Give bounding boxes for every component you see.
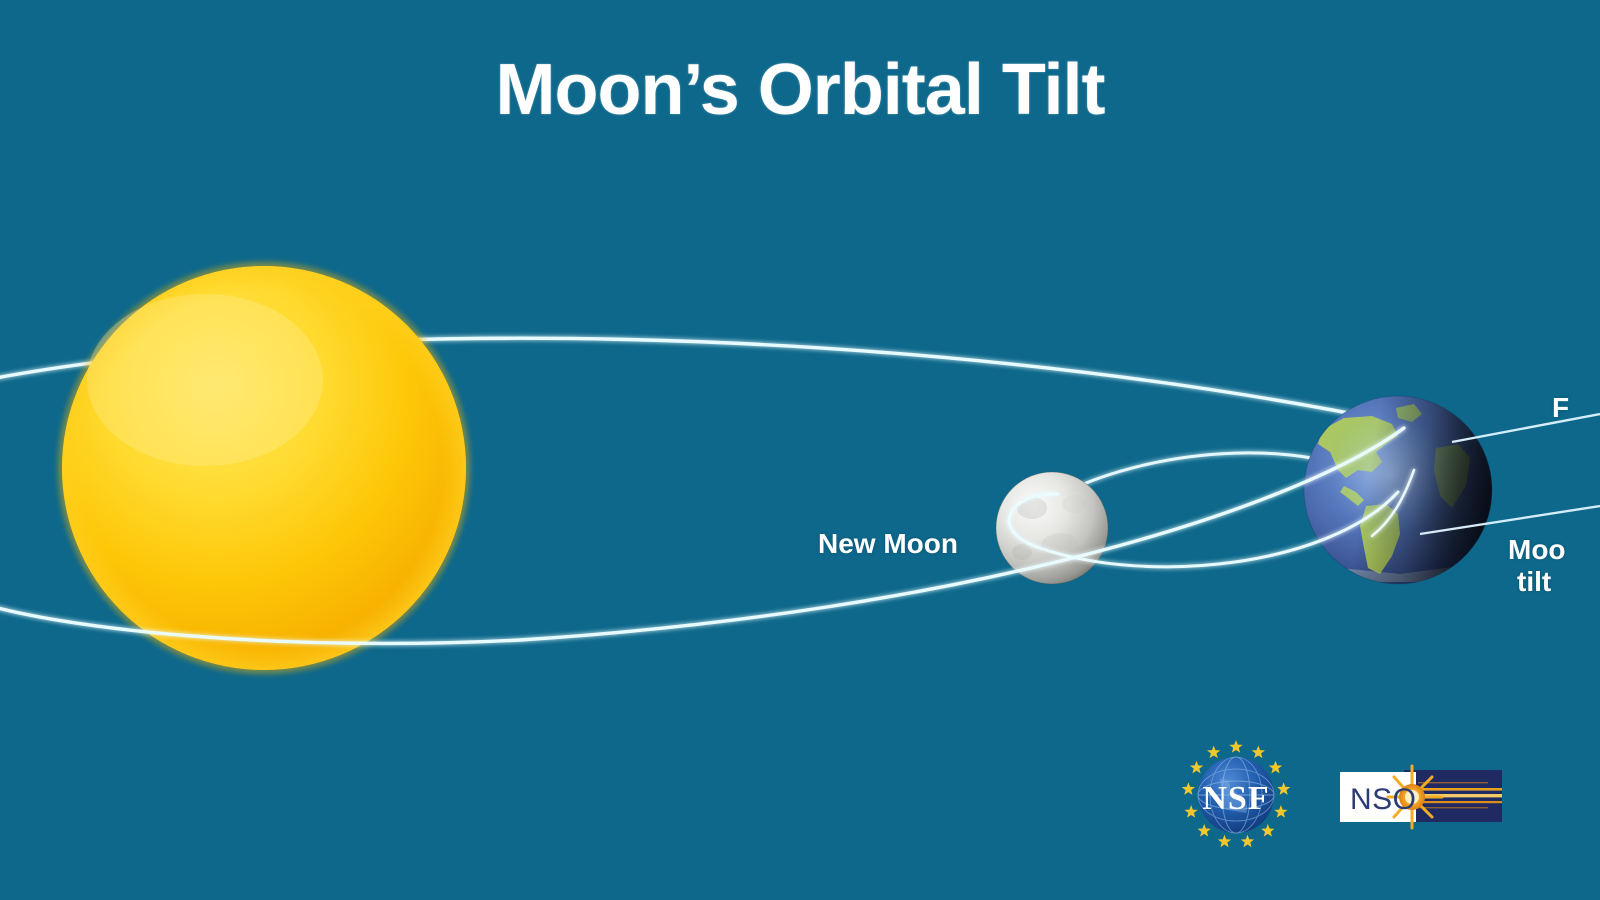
nsf-star-icon	[1182, 782, 1195, 795]
nsf-star-icon	[1274, 805, 1287, 818]
nsf-star-icon	[1184, 805, 1197, 818]
label-moon-orbital-tilt: Moo tilt	[1508, 534, 1566, 598]
nsf-logo-text: NSF	[1202, 780, 1269, 817]
nsf-star-icon	[1241, 835, 1254, 848]
sun	[58, 262, 470, 674]
nsf-star-icon	[1261, 824, 1274, 837]
nsf-star-icon	[1229, 740, 1242, 753]
label-full-moon: F	[1552, 393, 1569, 423]
nsf-star-icon	[1218, 835, 1231, 848]
label-orbital-tilt-line1: Moo	[1508, 534, 1566, 565]
nsf-star-icon	[1277, 782, 1290, 795]
nso-logo-text: NSO	[1350, 783, 1417, 816]
diagram-canvas: Moon’s Orbital Tilt New Moon F Moo tilt …	[0, 0, 1600, 900]
nso-logo: NSO	[1338, 764, 1504, 830]
page-title: Moon’s Orbital Tilt	[0, 54, 1600, 126]
nsf-star-icon	[1190, 761, 1203, 774]
nsf-star-icon	[1252, 745, 1265, 758]
moon	[996, 472, 1108, 584]
label-orbital-tilt-line2: tilt	[1508, 566, 1566, 598]
nsf-star-icon	[1198, 824, 1211, 837]
nsf-logo-svg: NSF	[1176, 733, 1296, 853]
nsf-star-icon	[1269, 761, 1282, 774]
nsf-logo: NSF	[1176, 733, 1296, 853]
nsf-star-icon	[1207, 745, 1220, 758]
label-new-moon: New Moon	[818, 529, 958, 559]
nso-logo-svg: NSO	[1338, 764, 1504, 830]
